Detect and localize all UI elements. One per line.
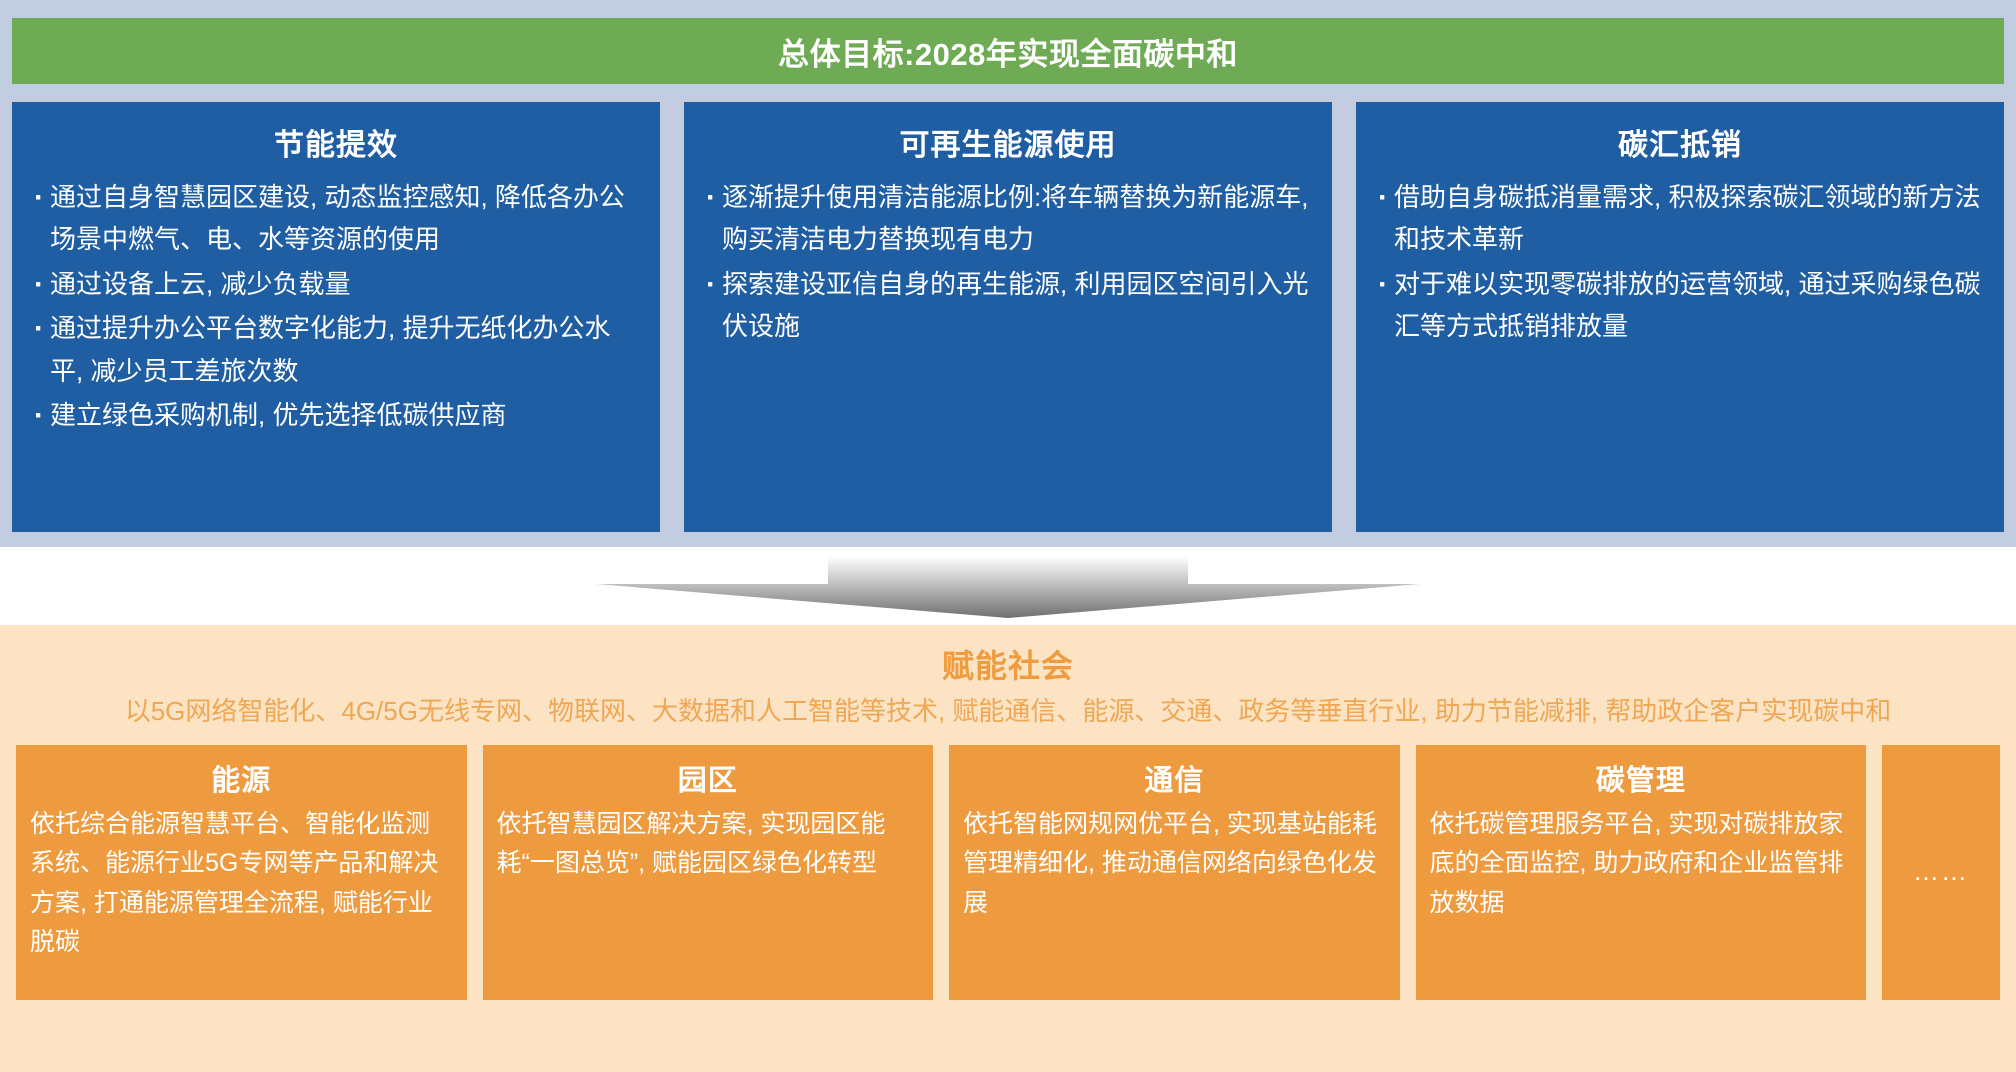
overall-goal-banner: 总体目标:2028年实现全面碳中和 [12,18,2004,84]
capability-card-more[interactable]: …… [1882,745,2000,1000]
enable-society-section: 赋能社会 以5G网络智能化、4G/5G无线专网、物联网、大数据和人工智能等技术,… [0,625,2016,1072]
arrow-gap [0,547,2016,625]
pillar-bullet: 借助自身碳抵消量需求, 积极探索碳汇领域的新方法和技术革新 [1376,176,1984,261]
pillar-card-energy-saving[interactable]: 节能提效 通过自身智慧园区建设, 动态监控感知, 降低各办公场景中燃气、电、水等… [12,102,660,532]
pillar-bullet: 探索建设亚信自身的再生能源, 利用园区空间引入光伏设施 [704,263,1312,348]
capability-card-title: 通信 [963,757,1386,799]
pillar-bullet: 对于难以实现零碳排放的运营领域, 通过采购绿色碳汇等方式抵销排放量 [1376,263,1984,348]
pillar-bullet-list: 通过自身智慧园区建设, 动态监控感知, 降低各办公场景中燃气、电、水等资源的使用… [32,176,640,436]
capability-card-title: 能源 [30,757,453,799]
pillar-bullet: 通过设备上云, 减少负载量 [32,263,640,305]
pillar-bullet-list: 逐渐提升使用清洁能源比例:将车辆替换为新能源车, 购买清洁电力替换现有电力 探索… [704,176,1312,348]
pillar-bullet-list: 借助自身碳抵消量需求, 积极探索碳汇领域的新方法和技术革新 对于难以实现零碳排放… [1376,176,1984,348]
down-arrow-icon [596,556,1420,618]
carbon-neutral-strategy-infographic: 总体目标:2028年实现全面碳中和 节能提效 通过自身智慧园区建设, 动态监控感… [0,0,2016,1072]
pillar-title: 可再生能源使用 [704,120,1312,164]
capability-card-body: 依托智能网规网优平台, 实现基站能耗管理精细化, 推动通信网络向绿色化发展 [963,805,1386,924]
enable-society-description: 以5G网络智能化、4G/5G无线专网、物联网、大数据和人工智能等技术, 赋能通信… [16,693,2000,731]
capability-card-title: 碳管理 [1430,757,1853,799]
capability-card-energy[interactable]: 能源 依托综合能源智慧平台、智能化监测系统、能源行业5G专网等产品和解决方案, … [16,745,467,1000]
capability-card-communication[interactable]: 通信 依托智能网规网优平台, 实现基站能耗管理精细化, 推动通信网络向绿色化发展 [949,745,1400,1000]
capability-card-carbon-management[interactable]: 碳管理 依托碳管理服务平台, 实现对碳排放家底的全面监控, 助力政府和企业监管排… [1416,745,1867,1000]
overall-goal-title: 总体目标:2028年实现全面碳中和 [778,29,1238,74]
pillar-card-renewable-energy[interactable]: 可再生能源使用 逐渐提升使用清洁能源比例:将车辆替换为新能源车, 购买清洁电力替… [684,102,1332,532]
capability-cards-row: 能源 依托综合能源智慧平台、智能化监测系统、能源行业5G专网等产品和解决方案, … [16,745,2000,1000]
pillar-bullet: 通过自身智慧园区建设, 动态监控感知, 降低各办公场景中燃气、电、水等资源的使用 [32,176,640,261]
capability-card-body: 依托碳管理服务平台, 实现对碳排放家底的全面监控, 助力政府和企业监管排放数据 [1430,805,1853,924]
capability-card-title: 园区 [497,757,920,799]
pillar-bullet: 逐渐提升使用清洁能源比例:将车辆替换为新能源车, 购买清洁电力替换现有电力 [704,176,1312,261]
pillar-bullet: 通过提升办公平台数字化能力, 提升无纸化办公水平, 减少员工差旅次数 [32,307,640,392]
internal-strategy-section: 总体目标:2028年实现全面碳中和 节能提效 通过自身智慧园区建设, 动态监控感… [0,0,2016,547]
pillar-bullet: 建立绿色采购机制, 优先选择低碳供应商 [32,394,640,436]
pillar-title: 碳汇抵销 [1376,120,1984,164]
more-ellipsis: …… [1913,856,1969,887]
pillar-title: 节能提效 [32,120,640,164]
capability-card-body: 依托综合能源智慧平台、智能化监测系统、能源行业5G专网等产品和解决方案, 打通能… [30,805,453,963]
enable-society-title: 赋能社会 [16,641,2000,687]
capability-card-park[interactable]: 园区 依托智慧园区解决方案, 实现园区能耗“一图总览”, 赋能园区绿色化转型 [483,745,934,1000]
capability-card-body: 依托智慧园区解决方案, 实现园区能耗“一图总览”, 赋能园区绿色化转型 [497,805,920,884]
pillars-row: 节能提效 通过自身智慧园区建设, 动态监控感知, 降低各办公场景中燃气、电、水等… [12,102,2004,532]
pillar-card-carbon-sink-offset[interactable]: 碳汇抵销 借助自身碳抵消量需求, 积极探索碳汇领域的新方法和技术革新 对于难以实… [1356,102,2004,532]
